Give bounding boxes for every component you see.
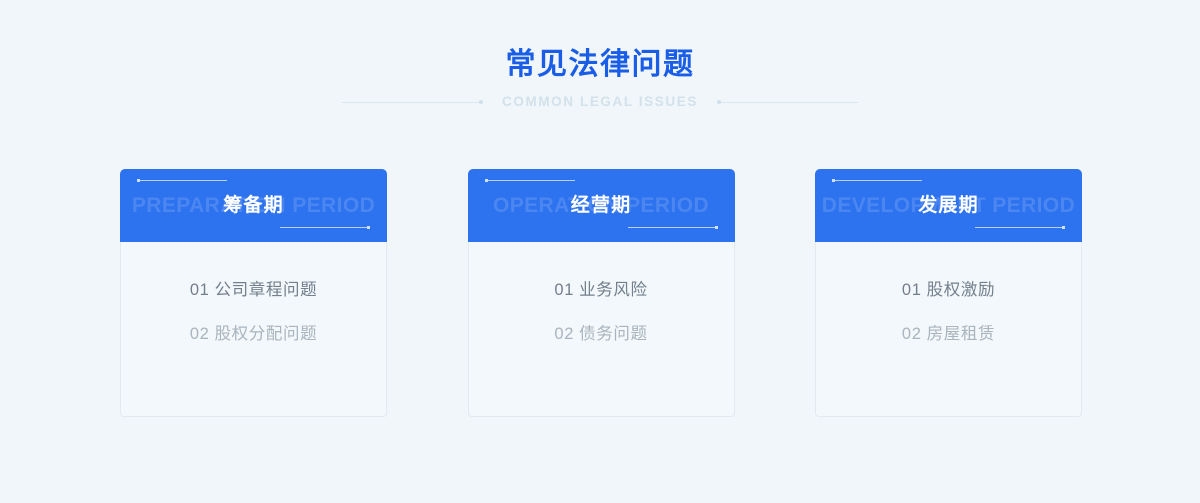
card-header: OPERATION PERIOD 经营期 [468,169,735,242]
list-item[interactable]: 02 股权分配问题 [121,322,386,346]
list-item[interactable]: 01 股权激励 [816,278,1081,302]
decorative-line-bar [342,102,482,103]
card-operation-period[interactable]: OPERATION PERIOD 经营期 01 业务风险 02 债务问题 [468,169,735,417]
page-title: 常见法律问题 [0,44,1200,86]
card-development-period[interactable]: DEVELOPMENT PERIOD 发展期 01 股权激励 02 房屋租赁 [815,169,1082,417]
card-title: 经营期 [468,169,735,242]
page-subtitle: COMMON LEGAL ISSUES [502,91,698,113]
subtitle-row: COMMON LEGAL ISSUES [0,91,1200,113]
card-preparation-period[interactable]: PREPARATION PERIOD 筹备期 01 公司章程问题 02 股权分配… [120,169,387,417]
card-title: 发展期 [815,169,1082,242]
section-heading: 常见法律问题 COMMON LEGAL ISSUES [0,44,1200,113]
list-item[interactable]: 01 公司章程问题 [121,278,386,302]
decorative-line-bar [718,102,858,103]
decorative-line-left [342,97,482,107]
list-item[interactable]: 02 债务问题 [469,322,734,346]
card-header: PREPARATION PERIOD 筹备期 [120,169,387,242]
card-body: 01 业务风险 02 债务问题 [468,242,735,417]
card-body: 01 股权激励 02 房屋租赁 [815,242,1082,417]
list-item[interactable]: 01 业务风险 [469,278,734,302]
list-item[interactable]: 02 房屋租赁 [816,322,1081,346]
decorative-line-right [718,97,858,107]
legal-issue-cards: PREPARATION PERIOD 筹备期 01 公司章程问题 02 股权分配… [120,169,1082,417]
card-header: DEVELOPMENT PERIOD 发展期 [815,169,1082,242]
card-body: 01 公司章程问题 02 股权分配问题 [120,242,387,417]
decorative-line-arrow-icon [479,100,483,104]
card-title: 筹备期 [120,169,387,242]
decorative-line-arrow-icon [717,100,721,104]
